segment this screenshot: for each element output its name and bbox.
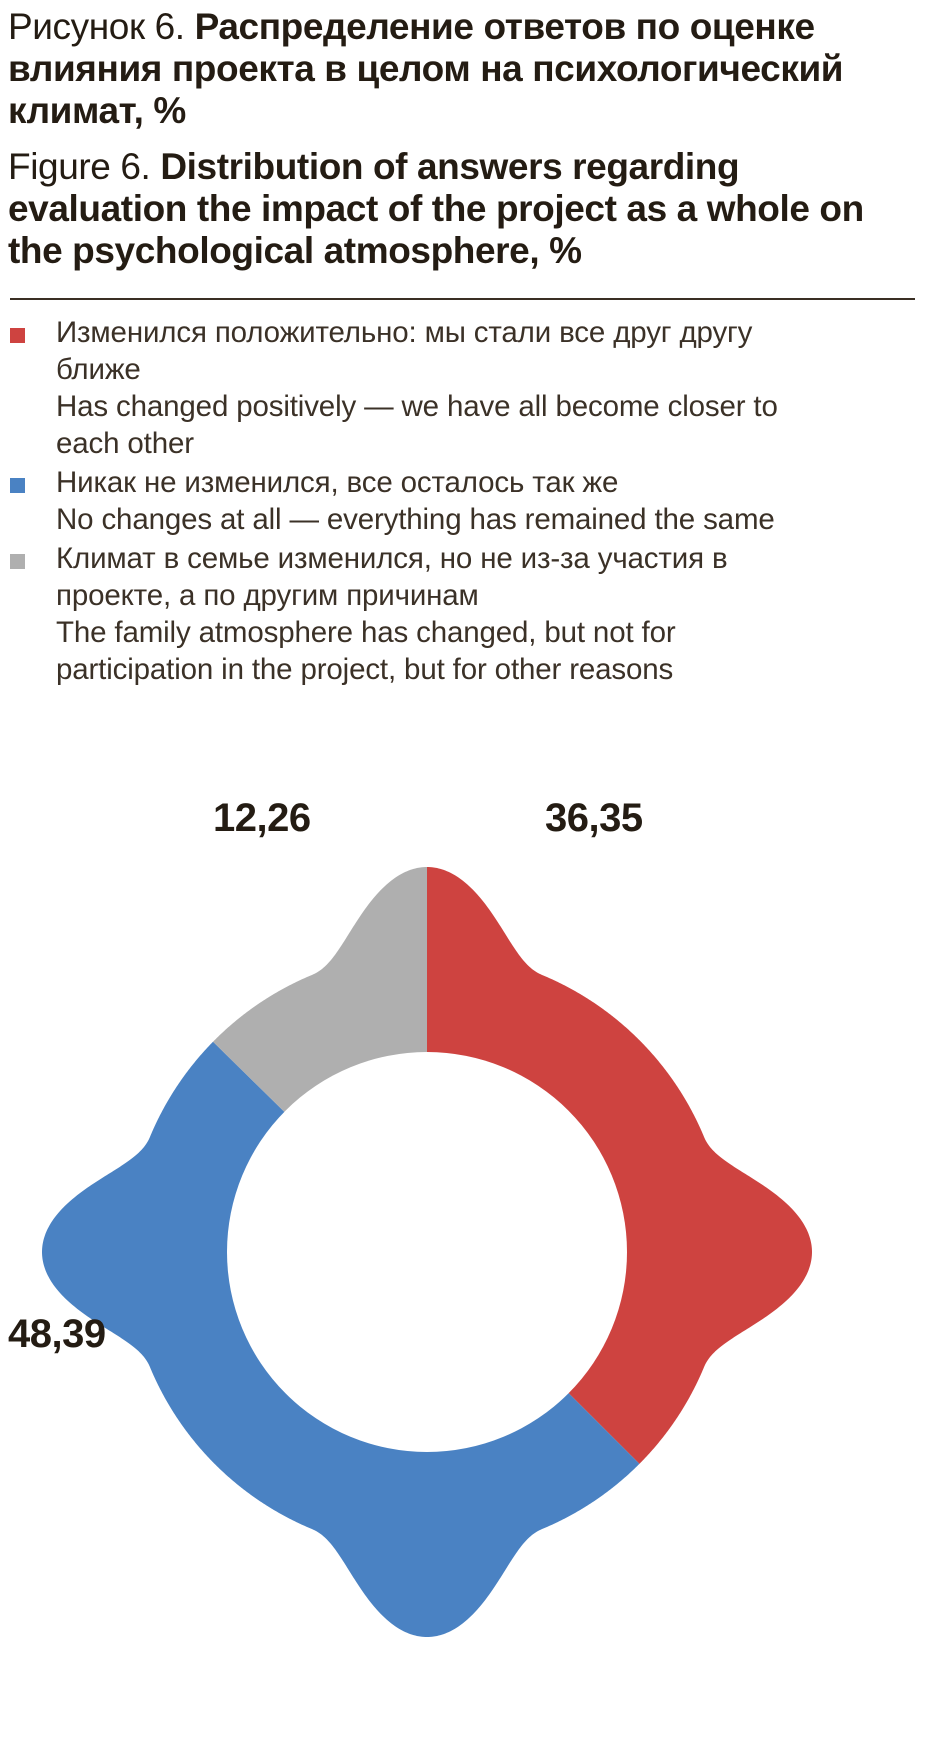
legend-label-line: Никак не изменился, все осталось так же — [56, 464, 917, 501]
figure-number-ru: Рисунок 6. — [8, 6, 185, 47]
figure-title-ru: Рисунок 6. Распределение ответов по оцен… — [8, 6, 917, 132]
legend-swatch-icon — [10, 328, 25, 343]
figure-number-en: Figure 6. — [8, 146, 150, 187]
legend-item: Изменился положительно: мы стали все дру… — [10, 314, 917, 462]
doughnut-hole — [227, 1052, 627, 1452]
chart-legend: Изменился положительно: мы стали все дру… — [8, 314, 917, 688]
figure-title-en: Figure 6. Distribution of answers regard… — [8, 146, 917, 272]
legend-item: Никак не изменился, все осталось так же … — [10, 464, 917, 538]
figure-title-block: Рисунок 6. Распределение ответов по оцен… — [8, 0, 917, 272]
legend-label-line: Изменился положительно: мы стали все дру… — [56, 314, 917, 351]
data-label-positive: 36,35 — [545, 796, 643, 841]
legend-label-line: ближе — [56, 351, 917, 388]
flower-doughnut-chart — [0, 712, 925, 1672]
legend-label-line: Климат в семье изменился, но не из-за уч… — [56, 540, 917, 577]
legend-label-line: each other — [56, 425, 917, 462]
chart-area: 36,35 48,39 12,26 — [0, 712, 925, 1672]
legend-item-labels: Изменился положительно: мы стали все дру… — [56, 314, 917, 462]
legend-item-labels: Никак не изменился, все осталось так же … — [56, 464, 917, 538]
legend-label-line: проекте, а по другим причинам — [56, 577, 917, 614]
legend-swatch-icon — [10, 554, 25, 569]
legend-label-line: Has changed positively — we have all bec… — [56, 388, 917, 425]
title-divider — [10, 298, 915, 300]
legend-label-line: participation in the project, but for ot… — [56, 651, 917, 688]
data-label-other: 12,26 — [213, 796, 311, 841]
legend-swatch-icon — [10, 478, 25, 493]
figure-page: Рисунок 6. Распределение ответов по оцен… — [0, 0, 925, 1737]
legend-item-labels: Климат в семье изменился, но не из-за уч… — [56, 540, 917, 688]
legend-label-line: No changes at all — everything has remai… — [56, 501, 917, 538]
legend-label-line: The family atmosphere has changed, but n… — [56, 614, 917, 651]
legend-item: Климат в семье изменился, но не из-за уч… — [10, 540, 917, 688]
data-label-no-change: 48,39 — [8, 1312, 106, 1357]
